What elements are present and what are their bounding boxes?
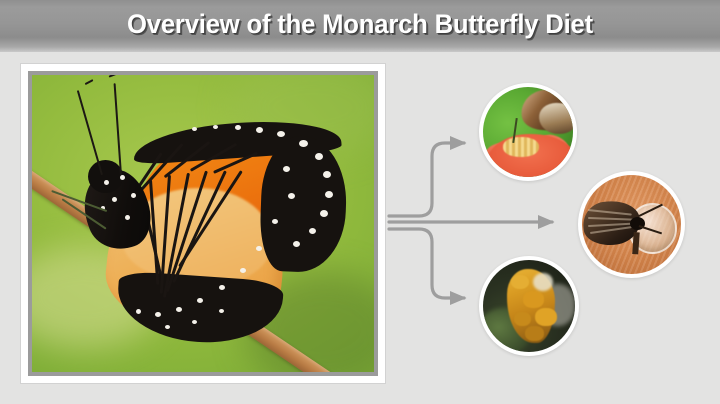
- antenna-tip: [109, 75, 118, 78]
- fruit-chunk: [535, 308, 557, 326]
- wing-spot: [165, 325, 170, 329]
- wing-spot: [219, 285, 225, 290]
- thumb-nectar[interactable]: [479, 83, 577, 181]
- body-spot: [131, 193, 136, 198]
- thumb-fruit[interactable]: [479, 256, 579, 356]
- monarch-butterfly-photo: [32, 75, 374, 372]
- fruit-chunk: [514, 312, 531, 327]
- wing-spot: [323, 171, 331, 178]
- wing-black-margin: [259, 134, 349, 273]
- title-banner: Overview of the Monarch Butterfly Diet: [0, 0, 720, 52]
- fruit-chunk: [511, 275, 529, 290]
- wing-spot: [256, 246, 262, 251]
- wing-spot: [213, 125, 218, 129]
- flower-disc: [503, 137, 539, 157]
- thumb-feeder[interactable]: [578, 171, 685, 278]
- wing-spot: [299, 140, 308, 147]
- wing-spot: [256, 127, 263, 133]
- wing-spot: [192, 127, 197, 131]
- butterfly-figure: [80, 123, 347, 343]
- thumb-fruit-image: [483, 260, 575, 352]
- body-spot: [104, 180, 109, 185]
- wing-spot: [315, 153, 323, 160]
- slide-canvas: Overview of the Monarch Butterfly Diet: [0, 0, 720, 404]
- wing-spot: [235, 125, 241, 130]
- main-photo-frame: [20, 63, 386, 384]
- fruit-chunk: [523, 291, 543, 308]
- wing-spot: [155, 312, 161, 317]
- wing-spot: [176, 307, 182, 312]
- arrow-to-fruit: [389, 229, 464, 298]
- antenna-left: [77, 90, 103, 175]
- wing-spot: [288, 193, 295, 199]
- thumb-nectar-image: [483, 87, 573, 177]
- main-photo-border: [28, 71, 378, 376]
- thumb-feeder-image: [582, 175, 681, 274]
- fruit-highlight: [533, 273, 553, 291]
- arrow-to-nectar: [389, 143, 464, 216]
- antenna-tip: [85, 79, 94, 85]
- page-title: Overview of the Monarch Butterfly Diet: [18, 0, 702, 48]
- fruit-chunk: [525, 326, 543, 341]
- butterfly-head: [88, 160, 123, 193]
- wing-spot: [325, 191, 333, 198]
- wing-spot: [240, 268, 246, 273]
